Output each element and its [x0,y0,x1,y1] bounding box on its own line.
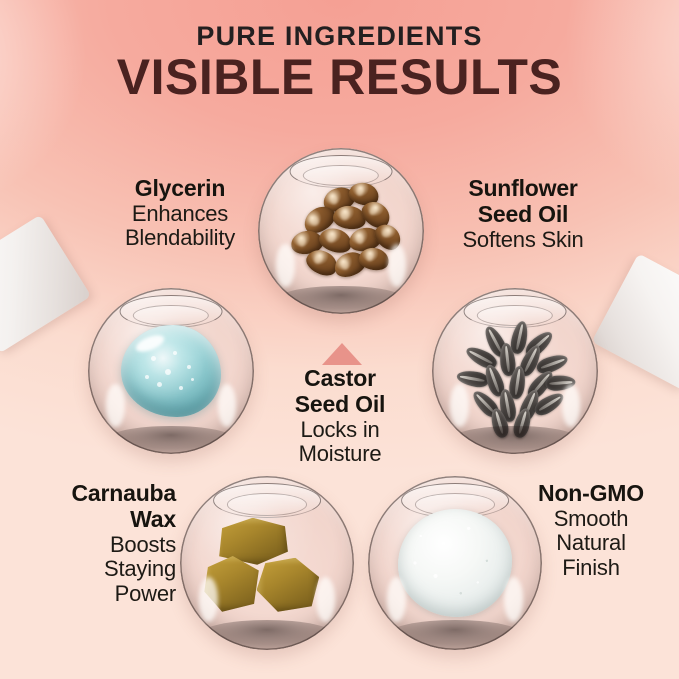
ingredient-desc-line: Smooth [510,507,672,532]
headline-eyebrow: PURE INGREDIENTS [0,22,679,50]
ingredient-title: Castor [277,366,403,392]
ingredient-desc-line: Moisture [277,442,403,467]
infographic-canvas: PURE INGREDIENTS VISIBLE RESULTS [0,0,679,679]
headline-main: VISIBLE RESULTS [0,52,679,103]
ingredient-sphere-carnauba[interactable] [180,476,354,650]
ingredient-label-castor: Castor Seed Oil Locks in Moisture [277,366,403,467]
white-block-left [0,215,91,354]
ingredient-title: Wax [8,507,176,533]
ingredient-sphere-glycerin[interactable] [88,288,254,454]
ingredient-desc-line: Enhances [94,202,266,227]
ingredient-sphere-castor[interactable] [258,148,424,314]
ingredient-label-sunflower: Sunflower Seed Oil Softens Skin [432,176,614,252]
castor-seed-cluster [258,148,424,314]
ingredient-desc-line: Blendability [94,226,266,251]
glycerin-gel [88,288,254,454]
ingredient-desc-line: Staying [8,557,176,582]
ingredient-label-glycerin: Glycerin Enhances Blendability [94,176,266,251]
ingredient-desc-line: Power [8,582,176,607]
ingredient-sphere-sunflower[interactable] [432,288,598,454]
sunflower-seed-cluster [432,288,598,454]
castor-pointer-triangle-icon [322,343,362,365]
ingredient-label-carnauba: Carnauba Wax Boosts Staying Power [8,481,176,606]
ingredient-desc-line: Natural [510,531,672,556]
ingredient-title: Glycerin [94,176,266,202]
ingredient-title: Sunflower [432,176,614,202]
ingredient-title: Seed Oil [277,392,403,418]
ingredient-title: Carnauba [8,481,176,507]
carnauba-wax-chunks [180,476,354,650]
ingredient-label-nongmo: Non-GMO Smooth Natural Finish [510,481,672,581]
ingredient-title: Seed Oil [432,202,614,228]
ingredient-desc-line: Locks in [277,418,403,443]
ingredient-desc-line: Softens Skin [432,228,614,253]
white-block-right [592,253,679,390]
ingredient-desc-line: Boosts [8,533,176,558]
ingredient-desc-line: Finish [510,556,672,581]
ingredient-title: Non-GMO [510,481,672,507]
headline-group: PURE INGREDIENTS VISIBLE RESULTS [0,22,679,103]
